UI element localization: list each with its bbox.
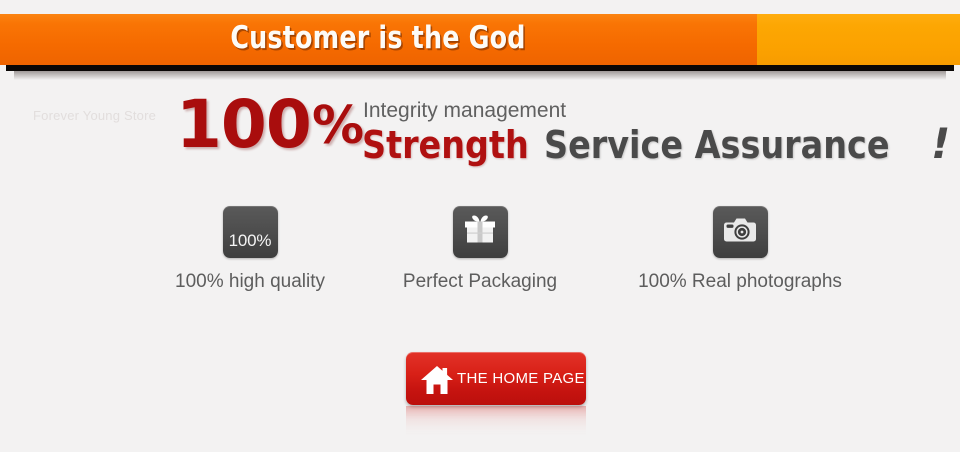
home-page-button[interactable]: THE HOME PAGE bbox=[406, 352, 586, 405]
home-button-reflection bbox=[406, 406, 586, 442]
gift-box-icon bbox=[453, 206, 508, 258]
headline-percent-sign: % bbox=[312, 100, 364, 152]
percent-badge-label: 100% bbox=[223, 231, 278, 251]
feature-label-high-quality: 100% high quality bbox=[150, 271, 350, 293]
feature-high-quality: 100% 100% high quality bbox=[150, 206, 350, 293]
headline-hundred: 100 bbox=[176, 92, 311, 158]
headline-second-line: Strength Service Assurance ! bbox=[362, 121, 950, 177]
camera-icon bbox=[713, 206, 768, 258]
feature-packaging: Perfect Packaging bbox=[380, 206, 580, 293]
home-icon bbox=[420, 364, 454, 396]
store-watermark: Forever Young Store bbox=[33, 108, 156, 123]
banner-shadow-fade bbox=[14, 71, 946, 80]
feature-label-packaging: Perfect Packaging bbox=[380, 271, 580, 293]
home-button-label: THE HOME PAGE bbox=[457, 370, 585, 387]
promo-banner-page: Customer is the God Forever Young Store … bbox=[0, 0, 960, 452]
home-button-area: THE HOME PAGE bbox=[406, 352, 586, 452]
header-banner: Customer is the God bbox=[0, 14, 960, 66]
feature-real-photographs: 100% Real photographs bbox=[610, 206, 870, 293]
gift-box-glyph bbox=[463, 214, 497, 251]
feature-label-real-photographs: 100% Real photographs bbox=[610, 271, 870, 293]
headline-integrity: Integrity management bbox=[363, 99, 566, 123]
banner-title: Customer is the God bbox=[68, 14, 688, 65]
camera-glyph bbox=[722, 215, 758, 250]
features-row: 100% 100% high quality Perfect Packagi bbox=[150, 206, 870, 306]
headline-exclamation: ! bbox=[931, 121, 950, 167]
percent-badge-icon: 100% bbox=[223, 206, 278, 258]
banner-bar-amber bbox=[757, 14, 960, 65]
headline-block: 100 % Integrity management Strength Serv… bbox=[176, 92, 876, 182]
headline-strength: Strength bbox=[362, 122, 529, 168]
headline-service-assurance: Service Assurance bbox=[544, 122, 890, 168]
banner-shadow bbox=[6, 64, 954, 71]
